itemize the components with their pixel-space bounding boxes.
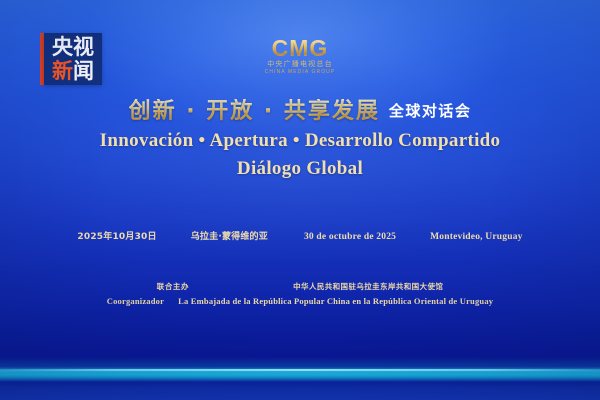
event-date-chinese: 2025年10月30日 — [77, 229, 156, 242]
event-date-spanish: 30 de octubre de 2025 — [304, 232, 396, 242]
organizer-label-chinese: 联合主办 — [157, 281, 189, 292]
title-spanish-line1: Innovación • Apertura • Desarrollo Compa… — [0, 130, 600, 152]
organizer-row-spanish: Coorganizador La Embajada de la Repúblic… — [0, 296, 600, 306]
cctv-news-logo-line1: 央视 — [52, 37, 94, 58]
organizer-value-chinese: 中华人民共和国驻乌拉圭东岸共和国大使馆 — [293, 281, 443, 292]
event-location-chinese: 乌拉圭·蒙得维的亚 — [191, 229, 268, 242]
cctv-news-logo[interactable]: 央视 新闻 — [44, 33, 102, 85]
cctv-news-logo-line2-orange: 新 — [52, 59, 73, 83]
title-chinese-sub: 全球对话会 — [389, 102, 472, 120]
title-chinese-main: 创新 · 开放 · 共享发展 — [129, 99, 380, 124]
event-meta-row: 2025年10月30日 乌拉圭·蒙得维的亚 30 de octubre de 2… — [0, 229, 600, 242]
organizer-value-spanish: La Embajada de la República Popular Chin… — [178, 296, 493, 306]
title-spanish-line2: Diálogo Global — [0, 158, 600, 180]
organizer-row-chinese: 联合主办 中华人民共和国驻乌拉圭东岸共和国大使馆 — [0, 281, 600, 292]
cyan-light-beam — [0, 357, 600, 383]
cctv-news-logo-line2-white: 闻 — [73, 59, 94, 83]
cyan-beam-core — [0, 369, 600, 371]
title-chinese: 创新 · 开放 · 共享发展全球对话会 — [0, 93, 600, 125]
event-location-spanish: Montevideo, Uruguay — [430, 232, 522, 242]
organizer-label-spanish: Coorganizador — [107, 296, 164, 306]
event-poster-stage: 央视 新闻 CMG 中央广播电视总台 CHINA MEDIA GROUP 创新 … — [0, 0, 600, 400]
